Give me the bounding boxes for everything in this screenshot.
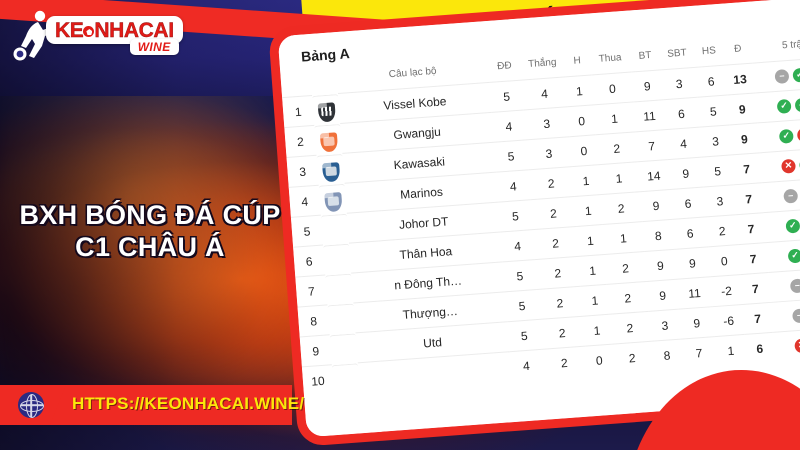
- form-badge-w: ✓: [792, 67, 800, 82]
- cell-gd: 0: [708, 245, 740, 277]
- cell-drawn: 1: [581, 284, 609, 316]
- cell-won: 2: [535, 256, 581, 289]
- form-badges: ✕✓✕✓: [773, 331, 800, 354]
- cell-points: 7: [738, 243, 768, 275]
- form-badge-d: –: [792, 308, 800, 323]
- team-crest-icon: [316, 153, 343, 174]
- cell-lost: 2: [609, 311, 651, 344]
- col-ga: SBT: [660, 47, 695, 70]
- cell-gf: 3: [649, 309, 681, 341]
- form-badge-w: ✓: [788, 248, 800, 263]
- form-badge-w: ✓: [777, 98, 792, 113]
- cell-drawn: 0: [585, 344, 613, 375]
- team-crest-icon: [332, 363, 359, 384]
- cell-drawn: 1: [579, 254, 607, 286]
- cell-rank: 2: [284, 125, 316, 157]
- cell-won: 2: [539, 316, 585, 349]
- form-badges: ✓✕✕✓✓: [758, 122, 800, 145]
- team-crest-icon: [321, 213, 348, 234]
- form-badge-d: –: [783, 188, 798, 203]
- cell-drawn: 1: [565, 75, 593, 107]
- cell-played: 5: [494, 140, 528, 172]
- cell-gd: 2: [706, 215, 738, 247]
- cell-gd: 5: [697, 95, 729, 127]
- cell-gf: 8: [642, 219, 674, 251]
- cell-won: 4: [521, 77, 567, 110]
- cell-rank: 3: [287, 155, 319, 187]
- cell-points: 7: [743, 302, 773, 334]
- cell-gf: 9: [647, 279, 679, 311]
- cell-rank: 10: [302, 365, 334, 397]
- crest-kawasaki-icon: [322, 162, 340, 182]
- cell-points: 9: [727, 93, 757, 125]
- cell-ga: 9: [679, 307, 715, 339]
- cell-won: 2: [537, 286, 583, 319]
- form-badge-w: ✓: [785, 218, 800, 233]
- cell-ga: 6: [672, 217, 708, 249]
- crest-blank-icon: [333, 312, 351, 332]
- crest-kobe-icon: [317, 102, 335, 122]
- cell-ga: 3: [661, 67, 697, 99]
- cell-ga: 7: [681, 337, 717, 369]
- col-gd: HS: [694, 45, 725, 68]
- cell-gf: 8: [651, 339, 683, 371]
- cell-points: 7: [740, 273, 770, 305]
- form-badges: ✓✕✓–: [764, 211, 800, 234]
- cell-gd: 1: [715, 334, 747, 366]
- cell-lost: 1: [602, 222, 644, 255]
- col-crest: [311, 73, 338, 95]
- cell-ga: 9: [674, 247, 710, 279]
- cell-ga: 6: [663, 97, 699, 129]
- standings-table: Câu lạc bộ ĐĐ Thắng H Thua BT SBT HS Đ 5…: [281, 33, 800, 396]
- cell-gf: 14: [638, 160, 670, 192]
- form-badges: ✓✕–✕✓: [767, 241, 800, 264]
- cell-played: 4: [501, 230, 535, 262]
- cell-lost: 2: [611, 341, 653, 373]
- cell-won: 3: [524, 107, 570, 140]
- cell-drawn: 0: [570, 135, 598, 167]
- cell-drawn: 0: [568, 105, 596, 137]
- cell-gd: -2: [710, 275, 742, 307]
- cell-won: 2: [541, 346, 587, 379]
- cell-points: 13: [725, 63, 755, 95]
- cell-lost: 0: [591, 72, 633, 105]
- cell-drawn: 1: [572, 165, 600, 197]
- col-played: ĐĐ: [488, 60, 521, 83]
- logo-text: KENHACAI: [55, 20, 174, 41]
- cell-rank: 8: [298, 305, 330, 337]
- cell-gf: 9: [644, 249, 676, 281]
- cell-gf: 9: [631, 70, 663, 102]
- team-crest-icon: [314, 123, 341, 144]
- cell-points: 7: [734, 183, 764, 215]
- cell-gd: -6: [713, 304, 745, 336]
- team-crest-icon: [319, 183, 346, 204]
- crest-blank-icon: [335, 342, 353, 362]
- form-badge-d: –: [774, 68, 789, 83]
- cell-ga: 9: [668, 157, 704, 189]
- cell-won: 2: [532, 226, 578, 259]
- cell-gf: 11: [633, 100, 665, 132]
- team-crest-icon: [330, 333, 357, 354]
- crest-blank-icon: [328, 252, 346, 272]
- form-badges: ✓✓✓✕: [756, 92, 800, 115]
- cell-played: 5: [498, 200, 532, 232]
- cell-played: 4: [492, 110, 526, 142]
- cell-points: 7: [732, 153, 762, 185]
- crest-blank-icon: [330, 282, 348, 302]
- crest-blank-icon: [326, 222, 344, 242]
- logo-text-part1: KE: [55, 19, 83, 42]
- col-rank: [281, 75, 312, 98]
- brand-logo[interactable]: KENHACAI WINE: [8, 6, 188, 68]
- col-points: Đ: [723, 43, 752, 65]
- team-crest-icon: [312, 94, 339, 115]
- form-badge-w: ✓: [779, 128, 794, 143]
- cell-gd: 6: [695, 65, 727, 97]
- form-badge-l: ✕: [794, 338, 800, 353]
- crest-gwangju-icon: [319, 132, 337, 152]
- logo-subtitle: WINE: [130, 39, 179, 55]
- form-badge-w: ✓: [795, 97, 800, 112]
- form-badges: ✕✓–✓: [760, 151, 800, 174]
- cell-played: 4: [496, 170, 530, 202]
- form-badge-d: –: [790, 278, 800, 293]
- cell-drawn: 1: [574, 195, 602, 227]
- form-badges: –✓✓✓✓: [753, 62, 800, 85]
- cell-won: 3: [526, 137, 572, 170]
- cell-played: 5: [507, 319, 541, 351]
- cell-points: 6: [745, 332, 775, 363]
- globe-ring-horizontal: [20, 400, 44, 412]
- form-badges: –✓✕✓✕: [762, 181, 800, 204]
- form-badges: –✓✓✕✕: [771, 301, 800, 324]
- crest-blank-icon: [337, 372, 355, 392]
- cell-won: 2: [528, 167, 574, 200]
- cell-ga: 11: [676, 277, 712, 309]
- cell-points: 9: [729, 123, 759, 155]
- cell-ga: 4: [666, 127, 702, 159]
- cell-ga: 6: [670, 187, 706, 219]
- cell-played: 4: [509, 349, 543, 381]
- url-text[interactable]: HTTPS://KEONHACAI.WINE/: [72, 394, 304, 414]
- table-body: 1Vissel Kobe541093613–✓✓✓✓2Gwangju430111…: [282, 54, 800, 397]
- cell-lost: 2: [600, 192, 642, 225]
- cell-drawn: 1: [576, 225, 604, 257]
- logo-pill: KENHACAI WINE: [46, 16, 183, 44]
- cell-won: 2: [530, 197, 576, 230]
- globe-icon: [18, 392, 44, 418]
- cell-lost: 1: [594, 102, 636, 135]
- cell-played: 5: [490, 80, 524, 112]
- cell-lost: 2: [596, 132, 638, 165]
- cell-played: 5: [503, 260, 537, 292]
- cell-points: 7: [736, 213, 766, 245]
- cell-rank: 7: [295, 275, 327, 307]
- cell-rank: 9: [300, 335, 332, 367]
- cell-gd: 3: [699, 125, 731, 157]
- url-bar[interactable]: HTTPS://KEONHACAI.WINE/: [0, 385, 292, 425]
- cell-lost: 1: [598, 162, 640, 195]
- team-crest-icon: [327, 303, 354, 324]
- team-crest-icon: [323, 243, 350, 264]
- team-crest-icon: [325, 273, 352, 294]
- cell-gf: 9: [640, 189, 672, 221]
- col-gf: BT: [630, 49, 661, 72]
- cell-lost: 2: [607, 281, 649, 314]
- form-badge-l: ✕: [781, 158, 796, 173]
- cell-gd: 5: [702, 155, 734, 187]
- cell-gf: 7: [636, 130, 668, 162]
- crest-marinos-icon: [324, 192, 342, 212]
- cell-rank: 1: [282, 95, 314, 127]
- page-title: BXH BÓNG ĐÁ CÚP C1 CHÂU Á: [0, 200, 300, 264]
- cell-gd: 3: [704, 185, 736, 217]
- cell-played: 5: [505, 290, 539, 322]
- cell-drawn: 1: [583, 314, 611, 346]
- form-badges: –✕✓✕✓: [769, 271, 800, 294]
- cell-lost: 2: [604, 252, 646, 285]
- col-drawn: H: [564, 55, 591, 77]
